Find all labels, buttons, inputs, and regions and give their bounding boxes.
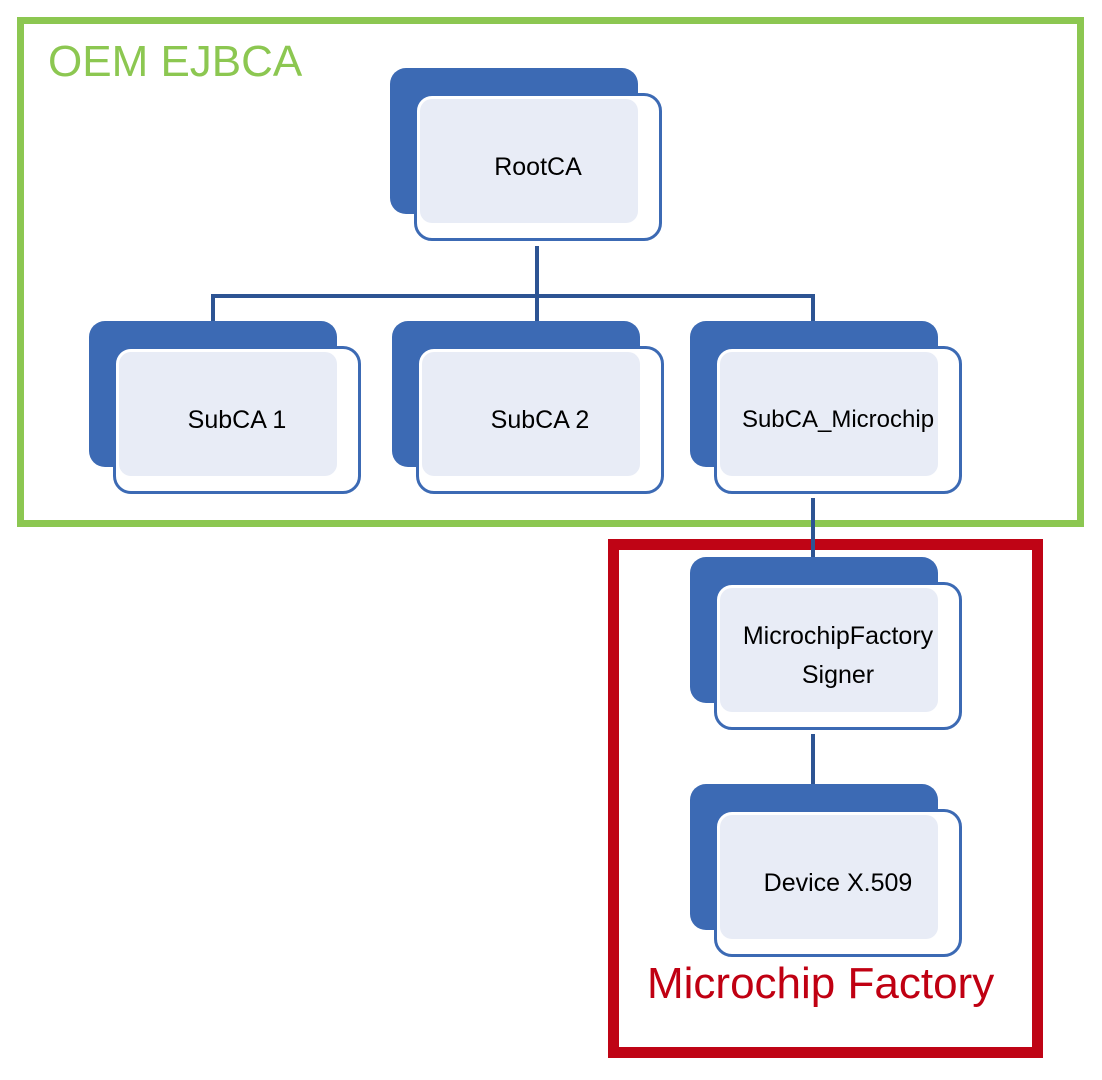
node-label-rootca: RootCA [414,93,662,241]
connector-drop-subca-microchip [811,294,815,324]
node-label-subca1: SubCA 1 [113,346,361,494]
connector-horizontal-bus [211,294,815,298]
node-label-line: Signer [802,656,874,695]
connector-rootca-stem [535,246,539,298]
node-label-line: SubCA_Microchip [742,401,934,438]
group-label-microchip-factory: Microchip Factory [647,962,994,1006]
node-label-line: RootCA [494,148,582,187]
connector-signer-to-device [811,734,815,786]
node-label-device-x509: Device X.509 [714,809,962,957]
connector-subca-microchip-to-signer [811,498,815,560]
node-label-line: Device X.509 [764,864,913,903]
node-label-line: SubCA 2 [491,401,590,440]
connector-drop-subca2 [535,294,539,324]
node-label-line: MicrochipFactory [743,617,933,656]
connector-drop-subca1 [211,294,215,324]
group-label-oem-ejbca: OEM EJBCA [48,40,302,84]
node-label-subca2: SubCA 2 [416,346,664,494]
node-label-line: SubCA 1 [188,401,287,440]
node-label-subca-microchip: SubCA_Microchip [714,346,962,494]
node-label-microchip-factory-signer: MicrochipFactory Signer [714,582,962,730]
diagram-canvas: OEM EJBCA RootCA SubCA 1 SubCA 2 [0,0,1102,1080]
